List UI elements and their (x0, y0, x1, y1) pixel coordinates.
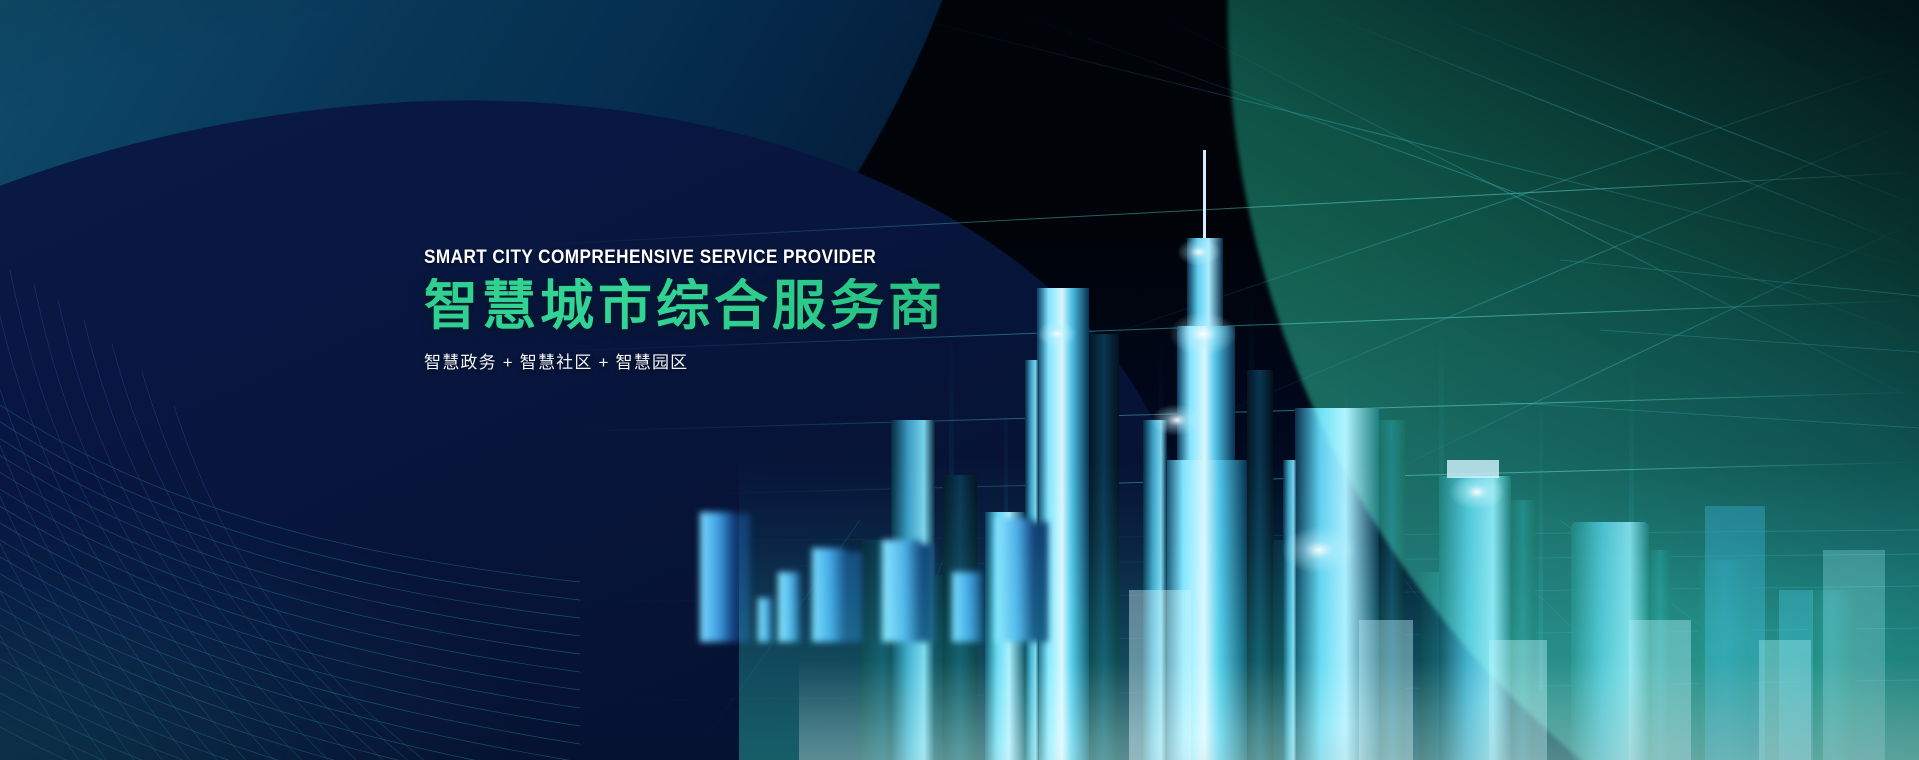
hero-copy-block: SMART CITY COMPREHENSIVE SERVICE PROVIDE… (424, 248, 1184, 373)
glowing-city-skyline (799, 120, 1919, 760)
hero-subline: 智慧政务 + 智慧社区 + 智慧园区 (424, 348, 1184, 373)
blurred-foreground-bars (690, 452, 1110, 642)
hero-tagline: SMART CITY COMPREHENSIVE SERVICE PROVIDE… (424, 248, 1093, 268)
hero-headline: 智慧城市综合服务商 (424, 278, 1184, 334)
smart-city-hero-banner: SMART CITY COMPREHENSIVE SERVICE PROVIDE… (0, 0, 1919, 760)
